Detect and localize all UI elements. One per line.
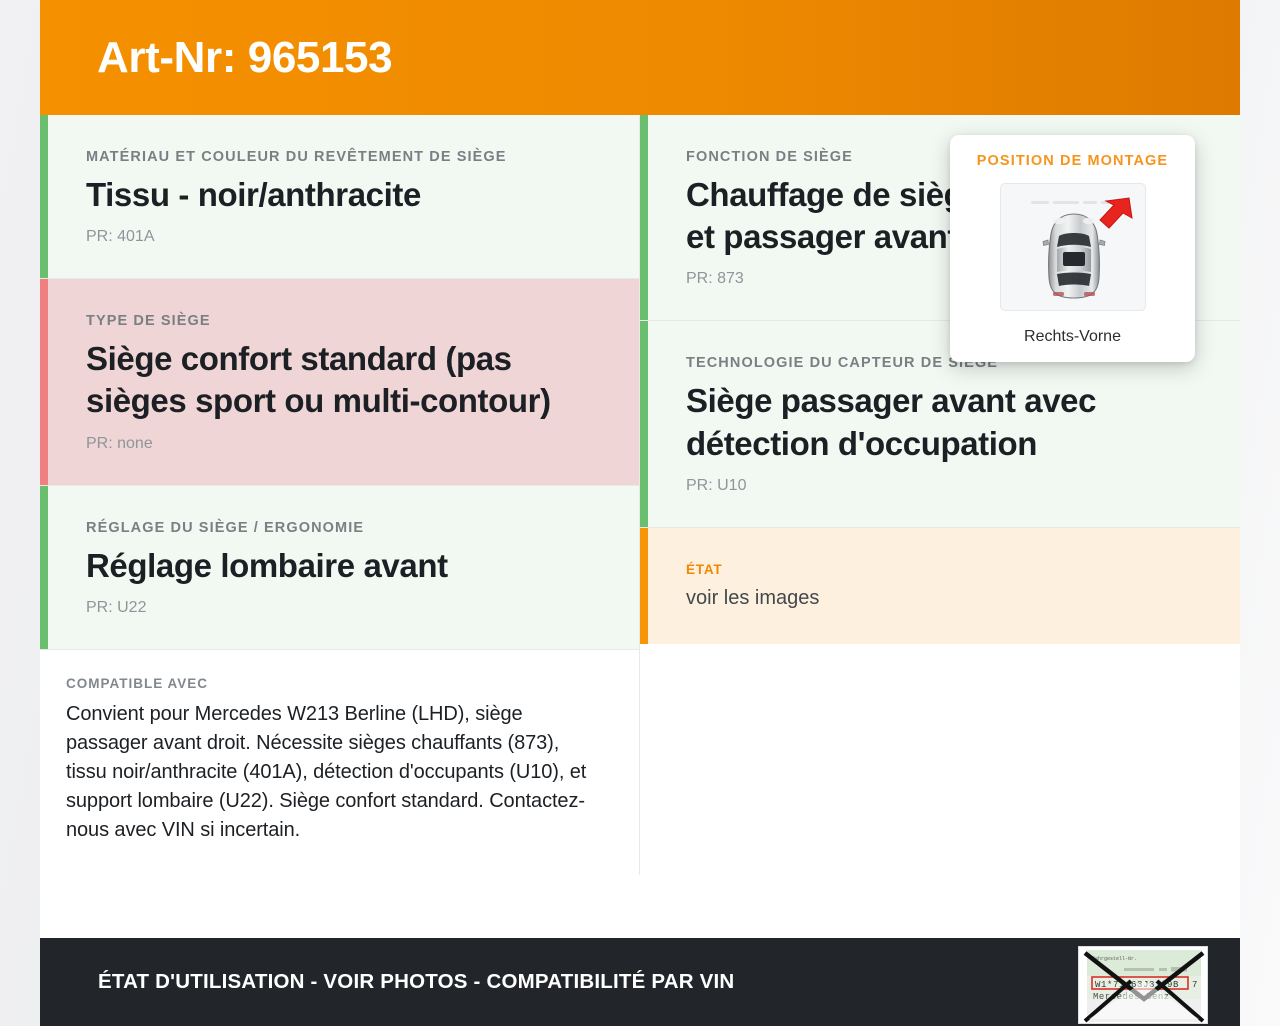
- mounting-position-title: POSITION DE MONTAGE: [966, 153, 1179, 169]
- state-value: voir les images: [686, 586, 1196, 612]
- page-footer: ÉTAT D'UTILISATION - VOIR PHOTOS - COMPA…: [40, 938, 1240, 1026]
- compatibility-text: Convient pour Mercedes W213 Berline (LHD…: [66, 700, 595, 845]
- spec-value: Siège confort standard (pas sièges sport…: [86, 338, 595, 422]
- mounting-position-card[interactable]: POSITION DE MONTAGE: [950, 135, 1195, 362]
- registration-document-vin-envelope-icon: Fahrgestell-Nr. W1*71463J31*9B 7 Mercede…: [1079, 947, 1208, 1024]
- spec-label: RÉGLAGE DU SIÈGE / ERGONOMIE: [86, 520, 595, 536]
- mounting-position-caption: Rechts-Vorne: [966, 328, 1179, 346]
- vin-document-thumbnail[interactable]: Fahrgestell-Nr. W1*71463J31*9B 7 Mercede…: [1078, 946, 1208, 1024]
- car-body: [1043, 214, 1105, 298]
- page-header: Art-Nr: 965153: [40, 0, 1240, 115]
- spec-value: Siège passager avant avec détection d'oc…: [686, 380, 1196, 464]
- state-card: ÉTAT voir les images: [640, 528, 1240, 644]
- spec-pr-code: PR: 401A: [86, 228, 595, 246]
- left-column: MATÉRIAU ET COULEUR DU REVÊTEMENT DE SIÈ…: [40, 115, 640, 875]
- state-label: ÉTAT: [686, 562, 1196, 577]
- footer-notice: ÉTAT D'UTILISATION - VOIR PHOTOS - COMPA…: [98, 970, 734, 994]
- spec-pr-code: PR: U10: [686, 477, 1196, 495]
- page-title: Art-Nr: 965153: [97, 36, 392, 80]
- thumbnail-watermark: [1031, 201, 1113, 204]
- compatibility-card: COMPATIBLE AVEC Convient pour Mercedes W…: [40, 650, 639, 875]
- product-spec-panel: Art-Nr: 965153 MATÉRIAU ET COULEUR DU RE…: [40, 0, 1240, 1026]
- spec-columns: MATÉRIAU ET COULEUR DU REVÊTEMENT DE SIÈ…: [40, 115, 1240, 938]
- svg-text:7: 7: [1192, 980, 1197, 990]
- spec-card-material: MATÉRIAU ET COULEUR DU REVÊTEMENT DE SIÈ…: [40, 115, 639, 279]
- spec-card-seat-type: TYPE DE SIÈGE Siège confort standard (pa…: [40, 279, 639, 485]
- spec-value: Réglage lombaire avant: [86, 545, 595, 587]
- spec-pr-code: PR: none: [86, 435, 595, 453]
- car-position-thumbnail[interactable]: [1000, 183, 1146, 311]
- car-top-view-with-arrow-icon: [1001, 184, 1146, 311]
- spec-label: MATÉRIAU ET COULEUR DU REVÊTEMENT DE SIÈ…: [86, 149, 595, 165]
- spec-pr-code: PR: U22: [86, 599, 595, 617]
- spec-label: TYPE DE SIÈGE: [86, 313, 595, 329]
- spec-card-adjustment: RÉGLAGE DU SIÈGE / ERGONOMIE Réglage lom…: [40, 486, 639, 650]
- compatibility-label: COMPATIBLE AVEC: [66, 676, 595, 691]
- spec-value: Tissu - noir/anthracite: [86, 174, 595, 216]
